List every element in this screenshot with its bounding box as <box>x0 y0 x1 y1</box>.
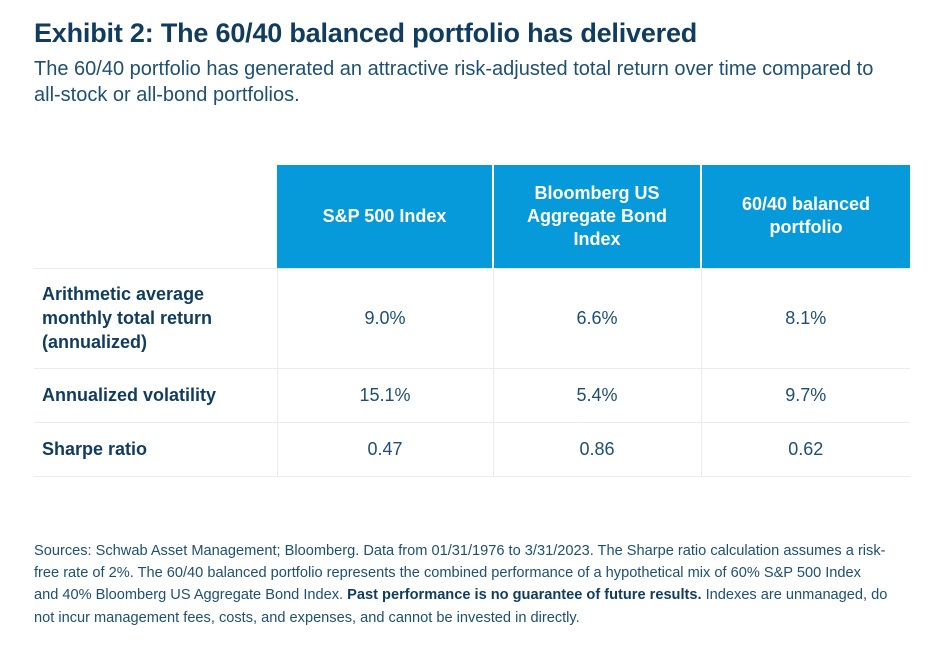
table-header: S&P 500 Index Bloomberg US Aggregate Bon… <box>34 165 910 268</box>
table-row: Annualized volatility 15.1% 5.4% 9.7% <box>34 368 910 422</box>
row-label-arithmetic-average-return: Arithmetic average monthly total return … <box>34 268 277 368</box>
cell-arithmetic-6040: 8.1% <box>701 268 910 368</box>
cell-sharpe-sp500: 0.47 <box>277 422 493 476</box>
exhibit-title: Exhibit 2: The 60/40 balanced portfolio … <box>34 18 906 50</box>
exhibit-subtitle: The 60/40 portfolio has generated an att… <box>34 56 879 108</box>
column-header-6040: 60/40 balanced portfolio <box>701 165 910 268</box>
data-table-container: S&P 500 Index Bloomberg US Aggregate Bon… <box>34 165 910 477</box>
cell-arithmetic-bloomberg-agg: 6.6% <box>493 268 701 368</box>
row-label-annualized-volatility: Annualized volatility <box>34 368 277 422</box>
performance-table: S&P 500 Index Bloomberg US Aggregate Bon… <box>34 165 910 477</box>
table-corner-cell <box>34 165 277 268</box>
cell-volatility-bloomberg-agg: 5.4% <box>493 368 701 422</box>
exhibit-figure: Exhibit 2: The 60/40 balanced portfolio … <box>0 0 940 658</box>
column-header-bloomberg-agg: Bloomberg US Aggregate Bond Index <box>493 165 701 268</box>
table-body: Arithmetic average monthly total return … <box>34 268 910 476</box>
cell-volatility-sp500: 15.1% <box>277 368 493 422</box>
cell-sharpe-6040: 0.62 <box>701 422 910 476</box>
source-footnote: Sources: Schwab Asset Management; Bloomb… <box>34 540 889 629</box>
column-header-sp500: S&P 500 Index <box>277 165 493 268</box>
cell-volatility-6040: 9.7% <box>701 368 910 422</box>
table-row: Sharpe ratio 0.47 0.86 0.62 <box>34 422 910 476</box>
cell-arithmetic-sp500: 9.0% <box>277 268 493 368</box>
row-label-sharpe-ratio: Sharpe ratio <box>34 422 277 476</box>
exhibit-header: Exhibit 2: The 60/40 balanced portfolio … <box>0 0 940 108</box>
table-header-row: S&P 500 Index Bloomberg US Aggregate Bon… <box>34 165 910 268</box>
cell-sharpe-bloomberg-agg: 0.86 <box>493 422 701 476</box>
footnote-disclaimer-bold: Past performance is no guarantee of futu… <box>347 587 701 603</box>
table-row: Arithmetic average monthly total return … <box>34 268 910 368</box>
